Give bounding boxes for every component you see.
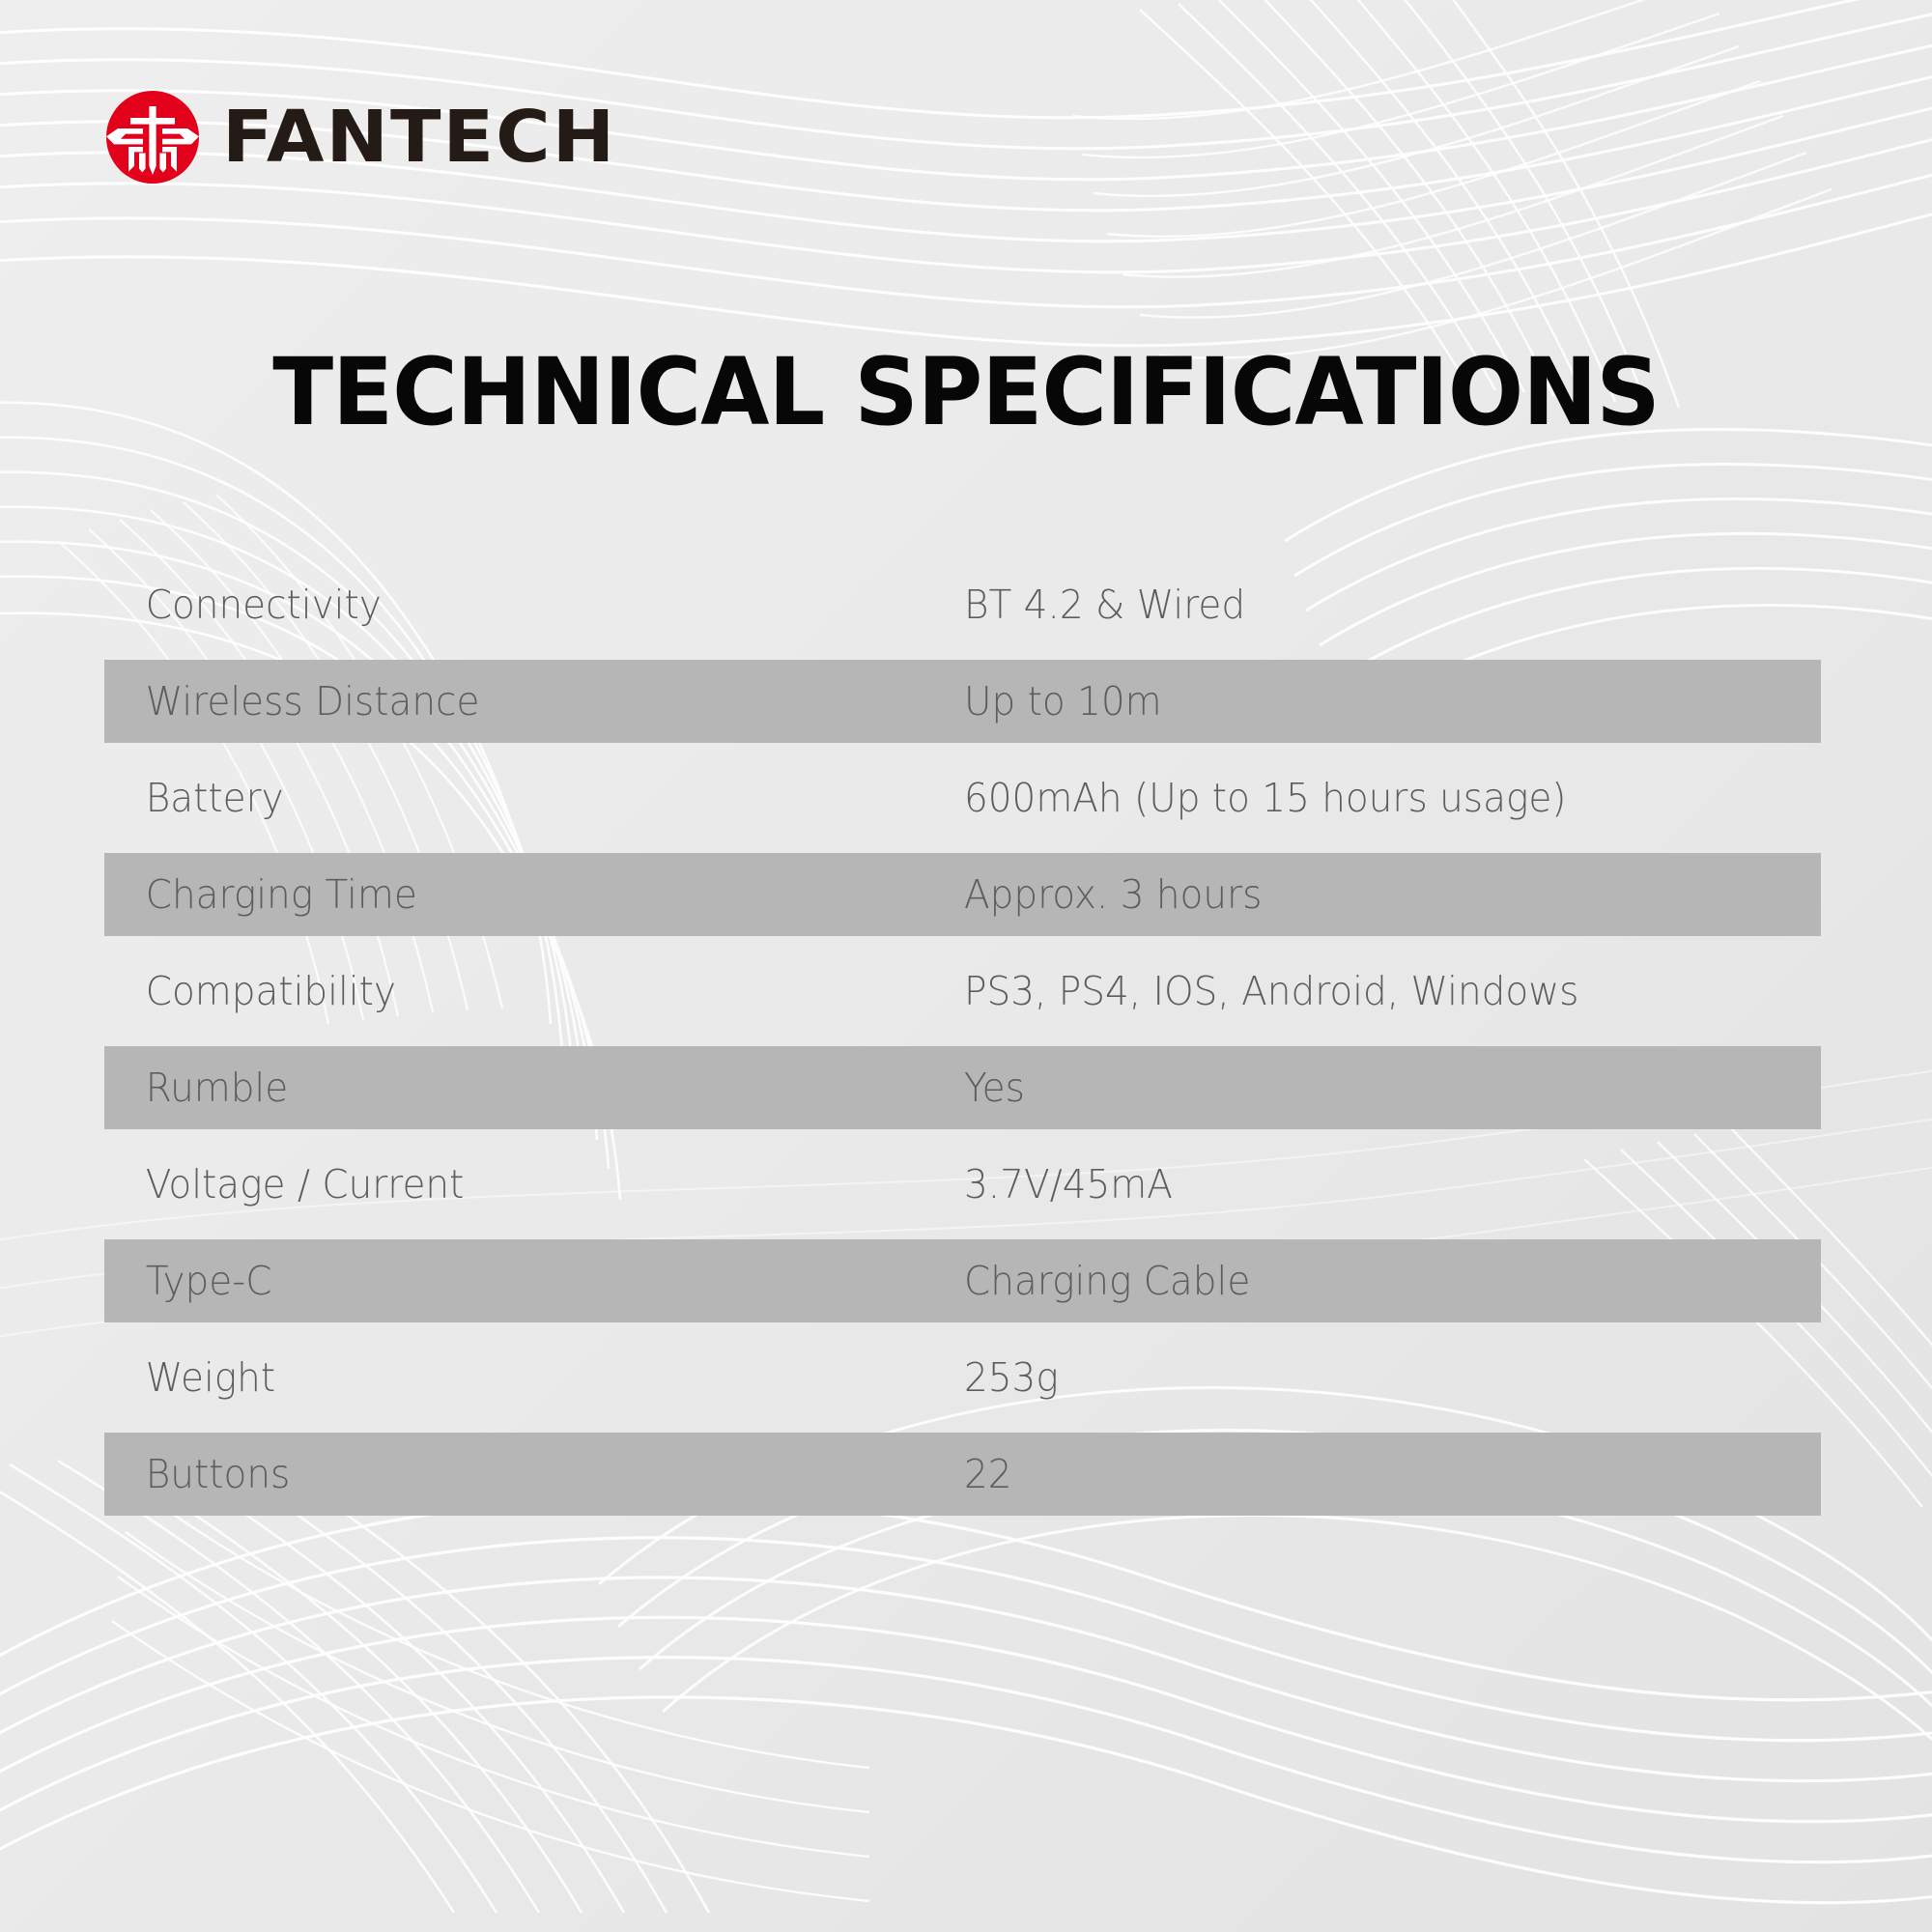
spec-label: Battery [104, 779, 922, 818]
spec-row: Type-CCharging Cable [104, 1233, 1821, 1329]
fantech-emblem-icon [104, 89, 201, 185]
spec-row: Voltage / Current3.7V/45mA [104, 1136, 1821, 1233]
spec-label: Charging Time [104, 875, 922, 915]
spec-value: 600mAh (Up to 15 hours usage) [964, 779, 1778, 818]
spec-sheet-page: FANTECH TECHNICAL SPECIFICATIONS Connect… [0, 0, 1932, 1932]
spec-row: Wireless DistanceUp to 10m [104, 653, 1821, 750]
spec-value: 253g [964, 1358, 1778, 1398]
spec-row: RumbleYes [104, 1039, 1821, 1136]
spec-value: Yes [964, 1068, 1778, 1108]
brand-wordmark: FANTECH [222, 101, 616, 173]
spec-table: ConnectivityBT 4.2 & WiredWireless Dista… [104, 556, 1821, 1522]
spec-label: Connectivity [104, 585, 922, 625]
spec-label: Rumble [104, 1068, 922, 1108]
spec-label: Compatibility [104, 972, 922, 1011]
spec-label: Wireless Distance [104, 682, 922, 722]
spec-row: CompatibilityPS3, PS4, IOS, Android, Win… [104, 943, 1821, 1039]
spec-label: Voltage / Current [104, 1165, 922, 1205]
spec-value: BT 4.2 & Wired [964, 585, 1778, 625]
spec-value: 3.7V/45mA [964, 1165, 1778, 1205]
spec-row: Charging TimeApprox. 3 hours [104, 846, 1821, 943]
spec-row: Buttons22 [104, 1426, 1821, 1522]
spec-value: PS3, PS4, IOS, Android, Windows [964, 972, 1778, 1011]
spec-value: Up to 10m [964, 682, 1778, 722]
spec-value: Charging Cable [964, 1262, 1778, 1301]
spec-label: Type-C [104, 1262, 922, 1301]
spec-row: ConnectivityBT 4.2 & Wired [104, 556, 1821, 653]
spec-value: 22 [964, 1455, 1778, 1494]
spec-row: Battery600mAh (Up to 15 hours usage) [104, 750, 1821, 846]
brand-logo: FANTECH [104, 89, 602, 185]
page-title: TECHNICAL SPECIFICATIONS [39, 346, 1893, 439]
spec-label: Weight [104, 1358, 922, 1398]
spec-label: Buttons [104, 1455, 922, 1494]
spec-row: Weight253g [104, 1329, 1821, 1426]
spec-value: Approx. 3 hours [964, 875, 1778, 915]
